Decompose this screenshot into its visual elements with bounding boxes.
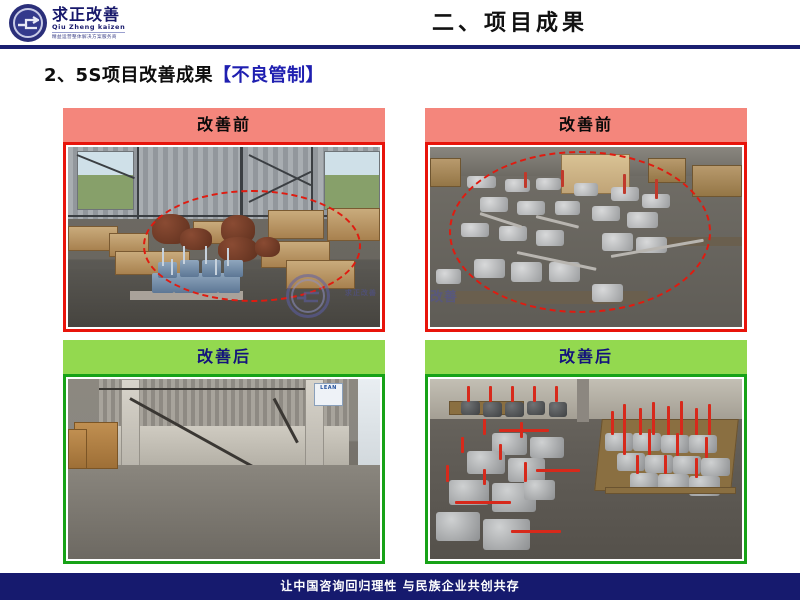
comparison-column-right: 改善前 bbox=[425, 108, 747, 564]
photo-organised-valves bbox=[430, 379, 742, 559]
header-divider bbox=[0, 45, 800, 49]
photo-clean-floor: LEAN bbox=[68, 379, 380, 559]
photo-scattered-valves: 改善 bbox=[430, 147, 742, 327]
band-before-left: 改善前 bbox=[63, 108, 385, 142]
company-logo: 求正改善 Qiu Zheng kaizen 精益运营整体解决方案服务商 bbox=[8, 2, 132, 44]
footer-slogan: 让中国咨询回归理性 与民族企业共创共存 bbox=[0, 573, 800, 600]
slide-header: 求正改善 Qiu Zheng kaizen 精益运营整体解决方案服务商 二、项目… bbox=[0, 0, 800, 46]
photo-after-left[interactable]: LEAN bbox=[63, 374, 385, 564]
photo-cluttered-workshop: 求正改善 bbox=[68, 147, 380, 327]
page-title: 二、项目成果 bbox=[300, 8, 720, 42]
slide-footer: 让中国咨询回归理性 与民族企业共创共存 bbox=[0, 573, 800, 600]
logo-chinese-name: 求正改善 bbox=[52, 6, 125, 23]
photo-watermark-icon bbox=[286, 274, 330, 318]
band-after-left: 改善后 bbox=[63, 340, 385, 374]
photo-watermark-text: 求正改善 bbox=[345, 288, 377, 298]
logo-english-name: Qiu Zheng kaizen bbox=[52, 23, 125, 31]
comparison-column-left: 改善前 bbox=[63, 108, 385, 564]
photo-after-right[interactable] bbox=[425, 374, 747, 564]
band-after-right: 改善后 bbox=[425, 340, 747, 374]
photo-before-left[interactable]: 求正改善 bbox=[63, 142, 385, 332]
band-before-right: 改善前 bbox=[425, 108, 747, 142]
logo-tagline: 精益运营整体解决方案服务商 bbox=[52, 32, 125, 41]
slide-canvas: 求正改善 Qiu Zheng kaizen 精益运营整体解决方案服务商 二、项目… bbox=[0, 0, 800, 600]
photo-before-right[interactable]: 改善 bbox=[425, 142, 747, 332]
logo-swoosh-icon bbox=[17, 16, 39, 30]
subtitle-black-text: 2、5S项目改善成果 bbox=[44, 65, 213, 86]
section-subtitle: 2、5S项目改善成果【不良管制】 bbox=[44, 62, 324, 90]
photo-watermark-text-right: 改善 bbox=[430, 286, 458, 305]
subtitle-blue-text: 【不良管制】 bbox=[213, 65, 324, 86]
lean-sign: LEAN bbox=[314, 383, 342, 406]
logo-emblem-icon bbox=[8, 3, 48, 43]
